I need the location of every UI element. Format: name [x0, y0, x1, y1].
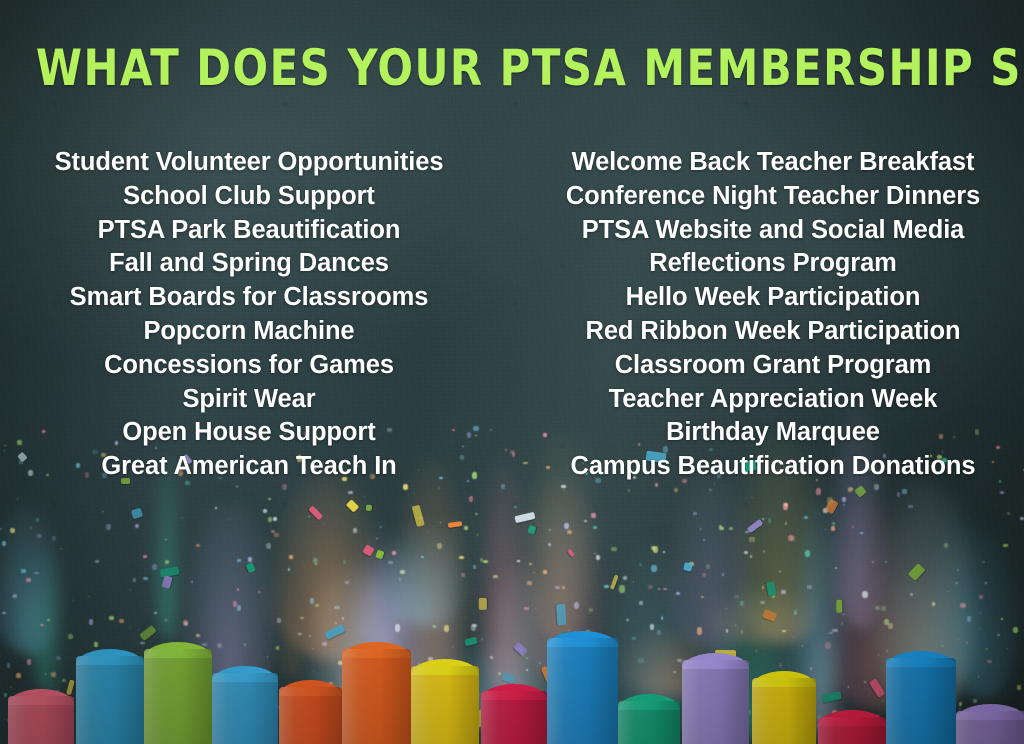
benefit-item: Birthday Marquee: [512, 416, 1024, 450]
page-title: What does your PTSA membership support?: [36, 41, 988, 95]
benefit-item: Open House Support: [0, 416, 512, 450]
benefit-item: Teacher Appreciation Week: [512, 383, 1024, 417]
benefits-column-left: Student Volunteer OpportunitiesSchool Cl…: [0, 146, 512, 484]
benefit-item: Concessions for Games: [0, 349, 512, 383]
benefit-item: Red Ribbon Week Participation: [512, 315, 1024, 349]
benefit-item: Great American Teach In: [0, 450, 512, 484]
benefit-item: Reflections Program: [512, 247, 1024, 281]
benefit-item: Conference Night Teacher Dinners: [512, 180, 1024, 214]
benefit-item: Spirit Wear: [0, 383, 512, 417]
benefit-item: Welcome Back Teacher Breakfast: [512, 146, 1024, 180]
benefit-item: Hello Week Participation: [512, 281, 1024, 315]
benefit-item: Popcorn Machine: [0, 315, 512, 349]
benefit-item: Campus Beautification Donations: [512, 450, 1024, 484]
benefit-item: Fall and Spring Dances: [0, 247, 512, 281]
benefit-item: PTSA Website and Social Media: [512, 214, 1024, 248]
benefit-item: Classroom Grant Program: [512, 349, 1024, 383]
benefit-item: Smart Boards for Classrooms: [0, 281, 512, 315]
ptsa-membership-poster: What does your PTSA membership support? …: [0, 0, 1024, 744]
benefit-item: Student Volunteer Opportunities: [0, 146, 512, 180]
benefits-columns: Student Volunteer OpportunitiesSchool Cl…: [0, 146, 1024, 484]
benefit-item: School Club Support: [0, 180, 512, 214]
benefits-list-right: Welcome Back Teacher BreakfastConference…: [512, 146, 1024, 484]
benefits-column-right: Welcome Back Teacher BreakfastConference…: [512, 146, 1024, 484]
benefit-item: PTSA Park Beautification: [0, 214, 512, 248]
benefits-list-left: Student Volunteer OpportunitiesSchool Cl…: [0, 146, 512, 484]
